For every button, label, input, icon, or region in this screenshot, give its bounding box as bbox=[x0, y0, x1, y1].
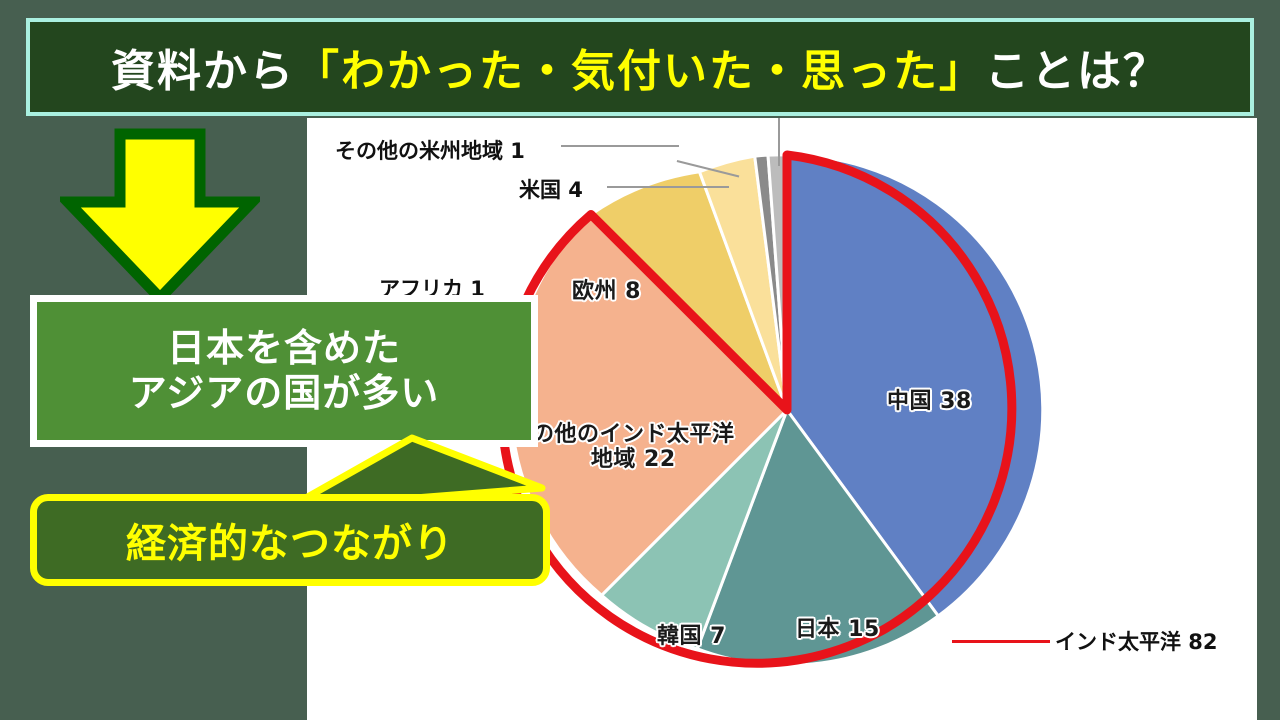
title-banner: 資料から「わかった・気付いた・思った」ことは？ bbox=[26, 18, 1254, 116]
note-box-line-1: 日本を含めた bbox=[167, 326, 401, 371]
pie-label-other-indo-pacific-line1: の他のインド太平洋 bbox=[532, 423, 735, 448]
pie-label-usa: 米国 4 bbox=[519, 174, 583, 204]
pie-label-europe: 欧州 8 bbox=[572, 273, 641, 305]
speech-bubble: 経済的なつながり bbox=[30, 494, 550, 586]
pie-label-china: 中国 38 bbox=[887, 383, 972, 415]
title-suffix: ことは？ bbox=[985, 46, 1169, 97]
page-title: 資料から「わかった・気付いた・思った」ことは？ bbox=[111, 35, 1169, 99]
leader-line-other-americas bbox=[561, 145, 679, 147]
leader-line-africa-vertical bbox=[778, 118, 780, 166]
leader-line-indo-pacific bbox=[952, 640, 1050, 643]
pie-label-korea: 韓国 7 bbox=[657, 618, 726, 650]
down-arrow-icon bbox=[60, 128, 260, 306]
pie-label-indo-pacific-total: インド太平洋 82 bbox=[1055, 626, 1218, 656]
pie-label-other-americas: その他の米州地域 1 bbox=[335, 135, 525, 165]
title-prefix: 資料から bbox=[111, 46, 295, 97]
speech-bubble-body: 経済的なつながり bbox=[30, 494, 550, 586]
note-box-line-2: アジアの国が多い bbox=[129, 371, 439, 416]
title-highlight: 「わかった・気付いた・思った」 bbox=[295, 46, 985, 97]
speech-bubble-text: 経済的なつながり bbox=[126, 511, 454, 569]
pie-label-other-indo-pacific: の他のインド太平洋 地域 22 bbox=[532, 423, 735, 472]
note-box: 日本を含めた アジアの国が多い bbox=[30, 295, 538, 447]
pie-label-other-indo-pacific-line2: 地域 22 bbox=[532, 448, 735, 473]
pie-label-japan: 日本 15 bbox=[795, 611, 880, 643]
leader-line-usa bbox=[607, 186, 729, 188]
